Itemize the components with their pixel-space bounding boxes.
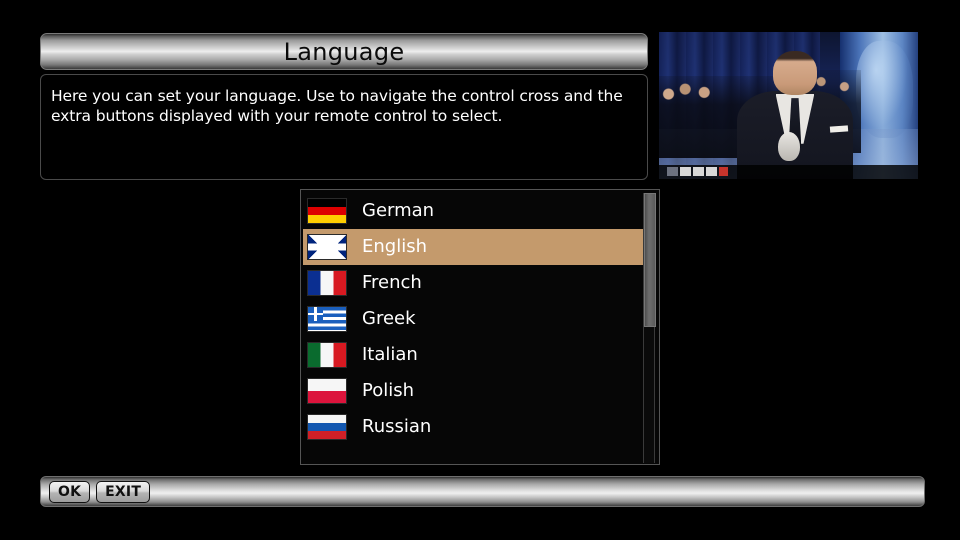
video-reporter-head xyxy=(773,51,817,95)
flag-italy-icon xyxy=(307,342,347,368)
video-preview[interactable] xyxy=(659,32,918,179)
scrollbar[interactable] xyxy=(643,193,655,463)
list-item-label: Greek xyxy=(362,310,416,328)
news-channel-logo-icon xyxy=(667,166,784,177)
list-item[interactable]: French xyxy=(303,265,643,301)
video-microphone xyxy=(778,132,800,161)
list-item-label: French xyxy=(362,274,422,292)
bottom-softkey-bar: OK EXIT xyxy=(40,476,925,507)
list-item-label: English xyxy=(362,238,427,256)
list-item[interactable]: Polish xyxy=(303,373,643,409)
exit-button[interactable]: EXIT xyxy=(96,481,150,503)
flag-france-icon xyxy=(307,270,347,296)
list-item[interactable]: Greek xyxy=(303,301,643,337)
list-item-label: German xyxy=(362,202,434,220)
list-item-label: Russian xyxy=(362,418,431,436)
ok-button[interactable]: OK xyxy=(49,481,90,503)
help-text: Here you can set your language. Use to n… xyxy=(51,86,637,126)
flag-united-kingdom-icon xyxy=(307,234,347,260)
flag-greece-icon xyxy=(307,306,347,332)
tv-settings-screen: Language Here you can set your language.… xyxy=(0,0,960,540)
help-text-box: Here you can set your language. Use to n… xyxy=(40,74,648,180)
list-item[interactable]: English xyxy=(303,229,643,265)
page-title: Language xyxy=(284,40,405,64)
video-pillar-detail xyxy=(856,41,913,138)
language-list-panel[interactable]: German English French Greek Italian Poli xyxy=(300,189,660,465)
list-item-label: Polish xyxy=(362,382,414,400)
list-item[interactable]: German xyxy=(303,193,643,229)
flag-russia-icon xyxy=(307,414,347,440)
list-item[interactable]: Russian xyxy=(303,409,643,445)
page-title-bar: Language xyxy=(40,33,648,70)
flag-poland-icon xyxy=(307,378,347,404)
language-list-rows: German English French Greek Italian Poli xyxy=(303,193,643,445)
list-item-label: Italian xyxy=(362,346,418,364)
flag-germany-icon xyxy=(307,198,347,224)
scrollbar-thumb[interactable] xyxy=(644,193,656,327)
list-item[interactable]: Italian xyxy=(303,337,643,373)
